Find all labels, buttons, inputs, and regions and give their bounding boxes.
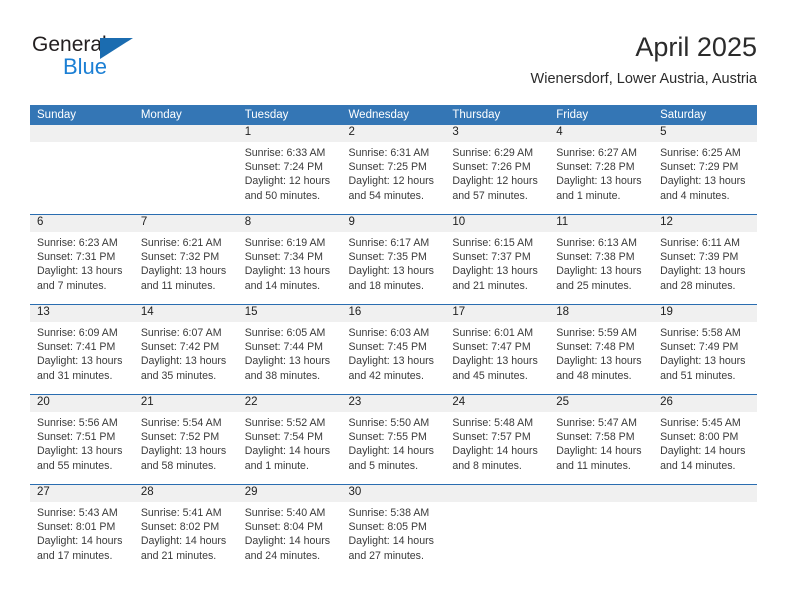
daylight-text: Daylight: 14 hours and 17 minutes. — [37, 534, 126, 562]
sunrise-text: Sunrise: 6:09 AM — [37, 326, 126, 340]
daylight-text: Daylight: 13 hours and 4 minutes. — [660, 174, 749, 202]
day-number: 22 — [238, 395, 342, 412]
sunset-text: Sunset: 7:52 PM — [141, 430, 230, 444]
calendar-day-cell[interactable]: 13Sunrise: 6:09 AMSunset: 7:41 PMDayligh… — [30, 305, 134, 395]
day-number: 30 — [342, 485, 446, 502]
day-details: Sunrise: 6:23 AMSunset: 7:31 PMDaylight:… — [30, 232, 134, 293]
page-header: General Blue April 2025 Wienersdorf, Low… — [0, 0, 792, 100]
day-details: Sunrise: 5:52 AMSunset: 7:54 PMDaylight:… — [238, 412, 342, 473]
calendar-day-cell[interactable]: 27Sunrise: 5:43 AMSunset: 8:01 PMDayligh… — [30, 485, 134, 575]
day-number — [30, 125, 134, 142]
sunrise-text: Sunrise: 5:45 AM — [660, 416, 749, 430]
day-number: 8 — [238, 215, 342, 232]
daylight-text: Daylight: 14 hours and 8 minutes. — [452, 444, 541, 472]
day-details: Sunrise: 6:33 AMSunset: 7:24 PMDaylight:… — [238, 142, 342, 203]
day-number: 21 — [134, 395, 238, 412]
daylight-text: Daylight: 13 hours and 1 minute. — [556, 174, 645, 202]
sunrise-text: Sunrise: 6:25 AM — [660, 146, 749, 160]
sunrise-text: Sunrise: 6:17 AM — [349, 236, 438, 250]
calendar-day-cell[interactable]: 22Sunrise: 5:52 AMSunset: 7:54 PMDayligh… — [238, 395, 342, 485]
calendar-day-cell[interactable]: 5Sunrise: 6:25 AMSunset: 7:29 PMDaylight… — [653, 125, 757, 215]
day-details: Sunrise: 6:13 AMSunset: 7:38 PMDaylight:… — [549, 232, 653, 293]
sunset-text: Sunset: 8:00 PM — [660, 430, 749, 444]
day-details: Sunrise: 6:07 AMSunset: 7:42 PMDaylight:… — [134, 322, 238, 383]
calendar-body: 1Sunrise: 6:33 AMSunset: 7:24 PMDaylight… — [30, 125, 757, 574]
day-number: 1 — [238, 125, 342, 142]
daylight-text: Daylight: 12 hours and 57 minutes. — [452, 174, 541, 202]
calendar-week-row: 1Sunrise: 6:33 AMSunset: 7:24 PMDaylight… — [30, 125, 757, 215]
sunset-text: Sunset: 7:39 PM — [660, 250, 749, 264]
sunrise-text: Sunrise: 6:15 AM — [452, 236, 541, 250]
sunrise-text: Sunrise: 5:50 AM — [349, 416, 438, 430]
daylight-text: Daylight: 13 hours and 28 minutes. — [660, 264, 749, 292]
calendar-day-cell-empty — [549, 485, 653, 575]
logo-text-blue: Blue — [63, 54, 107, 80]
day-details: Sunrise: 6:15 AMSunset: 7:37 PMDaylight:… — [445, 232, 549, 293]
day-number: 28 — [134, 485, 238, 502]
sunset-text: Sunset: 7:51 PM — [37, 430, 126, 444]
day-details: Sunrise: 5:54 AMSunset: 7:52 PMDaylight:… — [134, 412, 238, 473]
calendar-day-cell[interactable]: 19Sunrise: 5:58 AMSunset: 7:49 PMDayligh… — [653, 305, 757, 395]
sunset-text: Sunset: 7:45 PM — [349, 340, 438, 354]
day-details: Sunrise: 5:48 AMSunset: 7:57 PMDaylight:… — [445, 412, 549, 473]
page-title: April 2025 — [531, 30, 757, 64]
day-details: Sunrise: 5:47 AMSunset: 7:58 PMDaylight:… — [549, 412, 653, 473]
day-number: 9 — [342, 215, 446, 232]
day-details: Sunrise: 6:27 AMSunset: 7:28 PMDaylight:… — [549, 142, 653, 203]
day-number — [445, 485, 549, 502]
sunset-text: Sunset: 7:28 PM — [556, 160, 645, 174]
sunrise-text: Sunrise: 6:29 AM — [452, 146, 541, 160]
sunrise-text: Sunrise: 5:41 AM — [141, 506, 230, 520]
day-details: Sunrise: 5:41 AMSunset: 8:02 PMDaylight:… — [134, 502, 238, 563]
calendar-day-cell[interactable]: 6Sunrise: 6:23 AMSunset: 7:31 PMDaylight… — [30, 215, 134, 305]
weekday-header-wednesday: Wednesday — [342, 105, 446, 125]
calendar-day-cell[interactable]: 25Sunrise: 5:47 AMSunset: 7:58 PMDayligh… — [549, 395, 653, 485]
sunrise-text: Sunrise: 6:01 AM — [452, 326, 541, 340]
day-number: 13 — [30, 305, 134, 322]
sunset-text: Sunset: 7:55 PM — [349, 430, 438, 444]
sunrise-text: Sunrise: 5:52 AM — [245, 416, 334, 430]
sunrise-text: Sunrise: 5:48 AM — [452, 416, 541, 430]
calendar-day-cell[interactable]: 17Sunrise: 6:01 AMSunset: 7:47 PMDayligh… — [445, 305, 549, 395]
weekday-header-tuesday: Tuesday — [238, 105, 342, 125]
calendar-day-cell[interactable]: 16Sunrise: 6:03 AMSunset: 7:45 PMDayligh… — [342, 305, 446, 395]
daylight-text: Daylight: 13 hours and 18 minutes. — [349, 264, 438, 292]
day-number: 3 — [445, 125, 549, 142]
daylight-text: Daylight: 13 hours and 11 minutes. — [141, 264, 230, 292]
calendar: SundayMondayTuesdayWednesdayThursdayFrid… — [30, 105, 757, 574]
sunset-text: Sunset: 7:31 PM — [37, 250, 126, 264]
sunset-text: Sunset: 7:38 PM — [556, 250, 645, 264]
day-details: Sunrise: 5:40 AMSunset: 8:04 PMDaylight:… — [238, 502, 342, 563]
sunrise-text: Sunrise: 5:38 AM — [349, 506, 438, 520]
day-number: 16 — [342, 305, 446, 322]
sunrise-text: Sunrise: 5:59 AM — [556, 326, 645, 340]
sunrise-text: Sunrise: 5:47 AM — [556, 416, 645, 430]
daylight-text: Daylight: 13 hours and 21 minutes. — [452, 264, 541, 292]
sunrise-text: Sunrise: 6:03 AM — [349, 326, 438, 340]
daylight-text: Daylight: 12 hours and 54 minutes. — [349, 174, 438, 202]
day-details: Sunrise: 6:05 AMSunset: 7:44 PMDaylight:… — [238, 322, 342, 383]
day-number: 18 — [549, 305, 653, 322]
weekday-header-sunday: Sunday — [30, 105, 134, 125]
daylight-text: Daylight: 13 hours and 51 minutes. — [660, 354, 749, 382]
day-number: 4 — [549, 125, 653, 142]
daylight-text: Daylight: 13 hours and 7 minutes. — [37, 264, 126, 292]
sunrise-text: Sunrise: 6:21 AM — [141, 236, 230, 250]
sunset-text: Sunset: 7:37 PM — [452, 250, 541, 264]
day-number: 20 — [30, 395, 134, 412]
calendar-day-cell[interactable]: 7Sunrise: 6:21 AMSunset: 7:32 PMDaylight… — [134, 215, 238, 305]
daylight-text: Daylight: 14 hours and 5 minutes. — [349, 444, 438, 472]
calendar-week-row: 6Sunrise: 6:23 AMSunset: 7:31 PMDaylight… — [30, 215, 757, 305]
calendar-day-cell[interactable]: 28Sunrise: 5:41 AMSunset: 8:02 PMDayligh… — [134, 485, 238, 575]
calendar-day-cell-empty — [134, 125, 238, 215]
sunset-text: Sunset: 7:58 PM — [556, 430, 645, 444]
calendar-day-cell[interactable]: 21Sunrise: 5:54 AMSunset: 7:52 PMDayligh… — [134, 395, 238, 485]
calendar-day-cell[interactable]: 24Sunrise: 5:48 AMSunset: 7:57 PMDayligh… — [445, 395, 549, 485]
weekday-header-row: SundayMondayTuesdayWednesdayThursdayFrid… — [30, 105, 757, 125]
day-number: 27 — [30, 485, 134, 502]
calendar-day-cell-empty — [30, 125, 134, 215]
daylight-text: Daylight: 14 hours and 14 minutes. — [660, 444, 749, 472]
calendar-week-row: 13Sunrise: 6:09 AMSunset: 7:41 PMDayligh… — [30, 305, 757, 395]
calendar-day-cell[interactable]: 3Sunrise: 6:29 AMSunset: 7:26 PMDaylight… — [445, 125, 549, 215]
day-number: 11 — [549, 215, 653, 232]
calendar-day-cell[interactable]: 9Sunrise: 6:17 AMSunset: 7:35 PMDaylight… — [342, 215, 446, 305]
day-number: 14 — [134, 305, 238, 322]
location-subtitle: Wienersdorf, Lower Austria, Austria — [531, 68, 757, 90]
day-details: Sunrise: 5:38 AMSunset: 8:05 PMDaylight:… — [342, 502, 446, 563]
daylight-text: Daylight: 13 hours and 25 minutes. — [556, 264, 645, 292]
calendar-day-cell-empty — [445, 485, 549, 575]
day-details: Sunrise: 6:29 AMSunset: 7:26 PMDaylight:… — [445, 142, 549, 203]
daylight-text: Daylight: 13 hours and 35 minutes. — [141, 354, 230, 382]
day-number: 25 — [549, 395, 653, 412]
calendar-day-cell[interactable]: 18Sunrise: 5:59 AMSunset: 7:48 PMDayligh… — [549, 305, 653, 395]
weekday-header-thursday: Thursday — [445, 105, 549, 125]
sunrise-text: Sunrise: 5:58 AM — [660, 326, 749, 340]
calendar-day-cell[interactable]: 10Sunrise: 6:15 AMSunset: 7:37 PMDayligh… — [445, 215, 549, 305]
day-details: Sunrise: 6:03 AMSunset: 7:45 PMDaylight:… — [342, 322, 446, 383]
day-number: 10 — [445, 215, 549, 232]
calendar-day-cell[interactable]: 12Sunrise: 6:11 AMSunset: 7:39 PMDayligh… — [653, 215, 757, 305]
daylight-text: Daylight: 14 hours and 27 minutes. — [349, 534, 438, 562]
sunrise-text: Sunrise: 6:05 AM — [245, 326, 334, 340]
sunset-text: Sunset: 7:26 PM — [452, 160, 541, 174]
day-details: Sunrise: 6:01 AMSunset: 7:47 PMDaylight:… — [445, 322, 549, 383]
daylight-text: Daylight: 12 hours and 50 minutes. — [245, 174, 334, 202]
sunset-text: Sunset: 8:05 PM — [349, 520, 438, 534]
sunset-text: Sunset: 7:49 PM — [660, 340, 749, 354]
sunrise-text: Sunrise: 6:27 AM — [556, 146, 645, 160]
daylight-text: Daylight: 14 hours and 1 minute. — [245, 444, 334, 472]
sunset-text: Sunset: 7:54 PM — [245, 430, 334, 444]
daylight-text: Daylight: 13 hours and 58 minutes. — [141, 444, 230, 472]
daylight-text: Daylight: 13 hours and 55 minutes. — [37, 444, 126, 472]
general-blue-logo: General Blue — [32, 33, 212, 83]
sunset-text: Sunset: 7:42 PM — [141, 340, 230, 354]
day-number: 12 — [653, 215, 757, 232]
sunrise-text: Sunrise: 5:43 AM — [37, 506, 126, 520]
day-details: Sunrise: 6:17 AMSunset: 7:35 PMDaylight:… — [342, 232, 446, 293]
calendar-day-cell[interactable]: 23Sunrise: 5:50 AMSunset: 7:55 PMDayligh… — [342, 395, 446, 485]
daylight-text: Daylight: 13 hours and 14 minutes. — [245, 264, 334, 292]
day-number: 24 — [445, 395, 549, 412]
sunrise-text: Sunrise: 5:40 AM — [245, 506, 334, 520]
calendar-day-cell[interactable]: 4Sunrise: 6:27 AMSunset: 7:28 PMDaylight… — [549, 125, 653, 215]
calendar-day-cell[interactable]: 1Sunrise: 6:33 AMSunset: 7:24 PMDaylight… — [238, 125, 342, 215]
day-number — [653, 485, 757, 502]
day-number: 6 — [30, 215, 134, 232]
day-details: Sunrise: 5:56 AMSunset: 7:51 PMDaylight:… — [30, 412, 134, 473]
sunset-text: Sunset: 7:41 PM — [37, 340, 126, 354]
calendar-day-cell[interactable]: 11Sunrise: 6:13 AMSunset: 7:38 PMDayligh… — [549, 215, 653, 305]
sunrise-text: Sunrise: 6:33 AM — [245, 146, 334, 160]
day-details: Sunrise: 6:31 AMSunset: 7:25 PMDaylight:… — [342, 142, 446, 203]
calendar-table: SundayMondayTuesdayWednesdayThursdayFrid… — [30, 105, 757, 574]
sunrise-text: Sunrise: 6:19 AM — [245, 236, 334, 250]
calendar-day-cell[interactable]: 20Sunrise: 5:56 AMSunset: 7:51 PMDayligh… — [30, 395, 134, 485]
sunset-text: Sunset: 7:29 PM — [660, 160, 749, 174]
calendar-day-cell[interactable]: 14Sunrise: 6:07 AMSunset: 7:42 PMDayligh… — [134, 305, 238, 395]
sunrise-text: Sunrise: 5:54 AM — [141, 416, 230, 430]
day-number: 7 — [134, 215, 238, 232]
day-details: Sunrise: 5:45 AMSunset: 8:00 PMDaylight:… — [653, 412, 757, 473]
sunset-text: Sunset: 7:47 PM — [452, 340, 541, 354]
day-number: 29 — [238, 485, 342, 502]
daylight-text: Daylight: 13 hours and 45 minutes. — [452, 354, 541, 382]
sunrise-text: Sunrise: 6:13 AM — [556, 236, 645, 250]
calendar-day-cell[interactable]: 29Sunrise: 5:40 AMSunset: 8:04 PMDayligh… — [238, 485, 342, 575]
day-number: 26 — [653, 395, 757, 412]
day-number: 15 — [238, 305, 342, 322]
calendar-day-cell-empty — [653, 485, 757, 575]
day-number — [549, 485, 653, 502]
sunset-text: Sunset: 7:57 PM — [452, 430, 541, 444]
day-details: Sunrise: 5:50 AMSunset: 7:55 PMDaylight:… — [342, 412, 446, 473]
daylight-text: Daylight: 13 hours and 31 minutes. — [37, 354, 126, 382]
daylight-text: Daylight: 14 hours and 24 minutes. — [245, 534, 334, 562]
sunset-text: Sunset: 8:01 PM — [37, 520, 126, 534]
day-details: Sunrise: 6:19 AMSunset: 7:34 PMDaylight:… — [238, 232, 342, 293]
day-number: 5 — [653, 125, 757, 142]
calendar-header-row: SundayMondayTuesdayWednesdayThursdayFrid… — [30, 105, 757, 125]
day-number: 2 — [342, 125, 446, 142]
sunrise-text: Sunrise: 6:31 AM — [349, 146, 438, 160]
calendar-day-cell[interactable]: 8Sunrise: 6:19 AMSunset: 7:34 PMDaylight… — [238, 215, 342, 305]
daylight-text: Daylight: 13 hours and 42 minutes. — [349, 354, 438, 382]
calendar-day-cell[interactable]: 2Sunrise: 6:31 AMSunset: 7:25 PMDaylight… — [342, 125, 446, 215]
day-details: Sunrise: 6:11 AMSunset: 7:39 PMDaylight:… — [653, 232, 757, 293]
day-details: Sunrise: 5:59 AMSunset: 7:48 PMDaylight:… — [549, 322, 653, 383]
title-block: April 2025 Wienersdorf, Lower Austria, A… — [531, 30, 757, 90]
day-details: Sunrise: 6:21 AMSunset: 7:32 PMDaylight:… — [134, 232, 238, 293]
sunrise-text: Sunrise: 6:07 AM — [141, 326, 230, 340]
calendar-week-row: 20Sunrise: 5:56 AMSunset: 7:51 PMDayligh… — [30, 395, 757, 485]
day-number: 23 — [342, 395, 446, 412]
weekday-header-saturday: Saturday — [653, 105, 757, 125]
sunset-text: Sunset: 7:34 PM — [245, 250, 334, 264]
daylight-text: Daylight: 13 hours and 48 minutes. — [556, 354, 645, 382]
calendar-week-row: 27Sunrise: 5:43 AMSunset: 8:01 PMDayligh… — [30, 485, 757, 575]
daylight-text: Daylight: 13 hours and 38 minutes. — [245, 354, 334, 382]
day-number: 17 — [445, 305, 549, 322]
day-number — [134, 125, 238, 142]
calendar-day-cell[interactable]: 30Sunrise: 5:38 AMSunset: 8:05 PMDayligh… — [342, 485, 446, 575]
sunrise-text: Sunrise: 5:56 AM — [37, 416, 126, 430]
day-details: Sunrise: 5:58 AMSunset: 7:49 PMDaylight:… — [653, 322, 757, 383]
weekday-header-monday: Monday — [134, 105, 238, 125]
calendar-day-cell[interactable]: 26Sunrise: 5:45 AMSunset: 8:00 PMDayligh… — [653, 395, 757, 485]
sunset-text: Sunset: 7:32 PM — [141, 250, 230, 264]
sunrise-text: Sunrise: 6:11 AM — [660, 236, 749, 250]
daylight-text: Daylight: 14 hours and 21 minutes. — [141, 534, 230, 562]
daylight-text: Daylight: 14 hours and 11 minutes. — [556, 444, 645, 472]
sunset-text: Sunset: 8:02 PM — [141, 520, 230, 534]
sunset-text: Sunset: 7:44 PM — [245, 340, 334, 354]
sunset-text: Sunset: 7:25 PM — [349, 160, 438, 174]
sunset-text: Sunset: 7:24 PM — [245, 160, 334, 174]
calendar-day-cell[interactable]: 15Sunrise: 6:05 AMSunset: 7:44 PMDayligh… — [238, 305, 342, 395]
day-details: Sunrise: 5:43 AMSunset: 8:01 PMDaylight:… — [30, 502, 134, 563]
day-number: 19 — [653, 305, 757, 322]
sunset-text: Sunset: 7:35 PM — [349, 250, 438, 264]
weekday-header-friday: Friday — [549, 105, 653, 125]
sunset-text: Sunset: 7:48 PM — [556, 340, 645, 354]
day-details: Sunrise: 6:25 AMSunset: 7:29 PMDaylight:… — [653, 142, 757, 203]
sunset-text: Sunset: 8:04 PM — [245, 520, 334, 534]
sunrise-text: Sunrise: 6:23 AM — [37, 236, 126, 250]
day-details: Sunrise: 6:09 AMSunset: 7:41 PMDaylight:… — [30, 322, 134, 383]
